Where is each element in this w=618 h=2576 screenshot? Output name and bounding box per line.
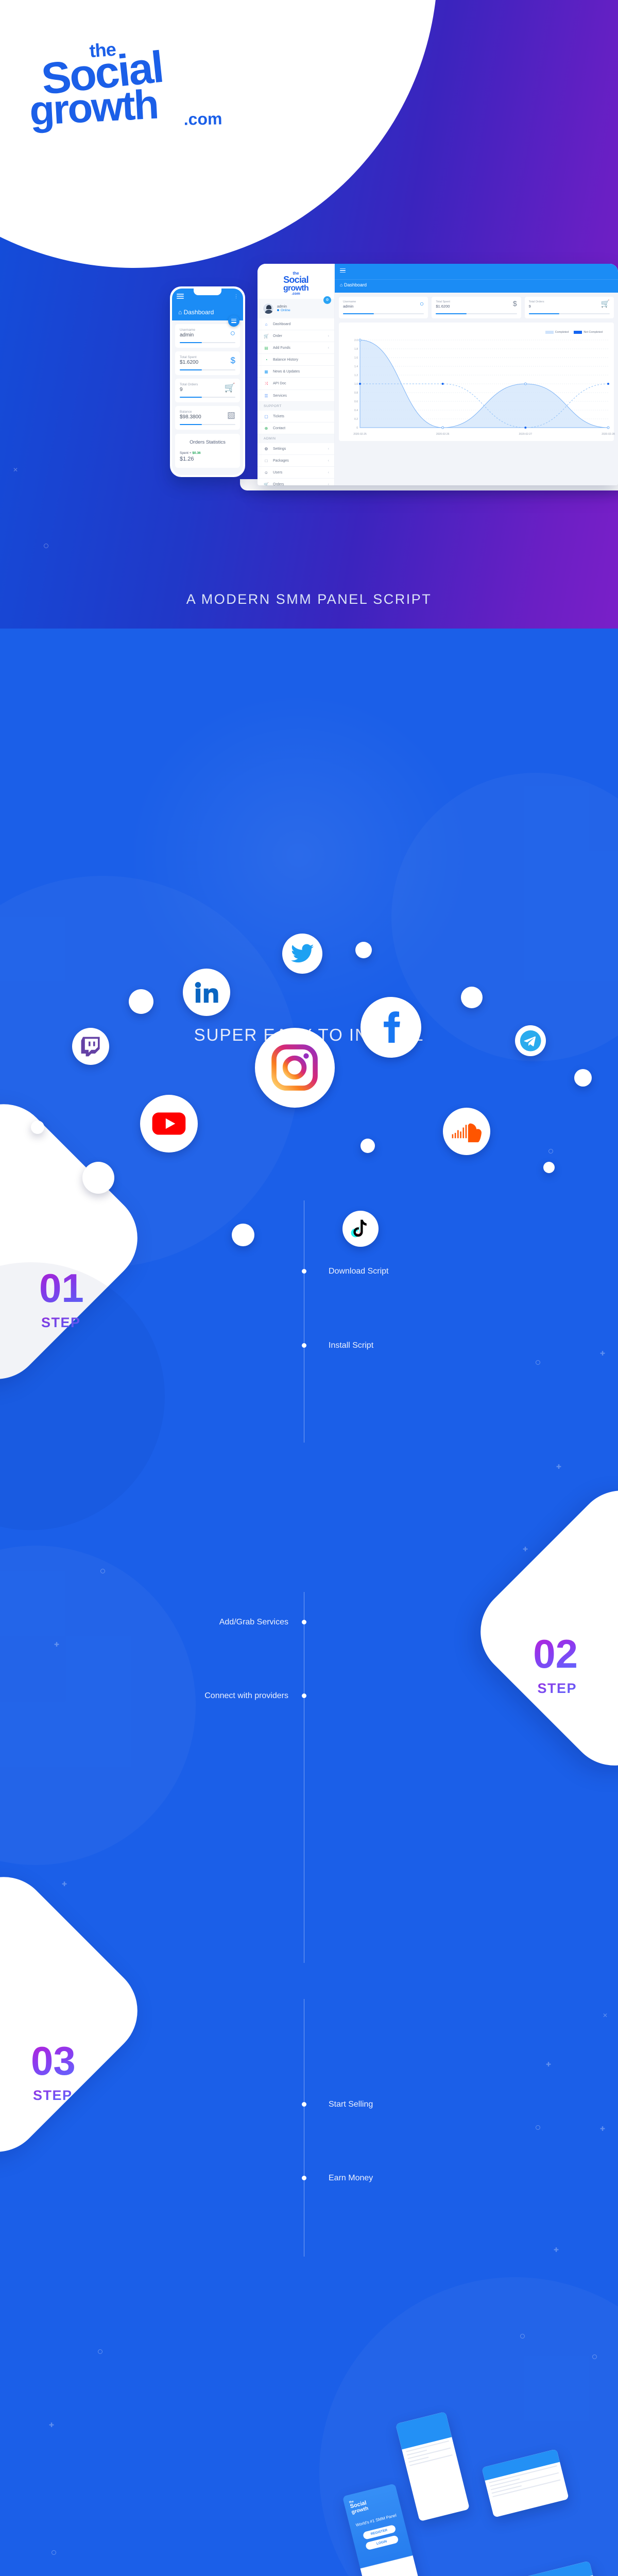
- sidebar-item-label: Dashboard: [273, 323, 290, 326]
- timeline-dot: [302, 2176, 306, 2180]
- step-item-add-grab-services: Add/Grab Services: [219, 1618, 288, 1627]
- decor-bubble: [360, 1139, 375, 1153]
- chevron-left-icon[interactable]: ‹: [328, 334, 329, 338]
- progress-bar: [180, 397, 235, 398]
- decor-bubble: [232, 1224, 254, 1246]
- decor-cross: ✕: [603, 2012, 608, 2019]
- breadcrumb: ⌂ Dashboard: [335, 279, 618, 293]
- hero-section: the Social growth .com the Social growth…: [0, 0, 618, 629]
- dashboard-main: ⌂ Dashboard Usernameadmin○Total Spent$1.…: [335, 264, 618, 485]
- chart-legend: Completed Not Completed: [545, 331, 603, 334]
- legend-completed: Completed: [545, 331, 569, 334]
- svg-text:0.4: 0.4: [354, 409, 358, 412]
- orders-spent-row: Spent + $0.36: [180, 451, 235, 455]
- dashboard-topbar: [335, 264, 618, 279]
- sidebar-menu: ⌂Dashboard🛒Order‹▤Add Funds‹◔Balance His…: [257, 318, 334, 402]
- stat-card-total-orders: Total Orders9🛒: [525, 297, 614, 318]
- dollar-icon: $: [513, 300, 517, 307]
- chat-icon: ▢: [264, 414, 269, 419]
- decor-plus: ✚: [600, 2125, 605, 2132]
- phone-fab-button[interactable]: [228, 315, 239, 327]
- stat-card-total-spent: Total Spent$1.6200$: [432, 297, 521, 318]
- decor-plus: ✚: [556, 1463, 561, 1470]
- chevron-left-icon[interactable]: ‹: [328, 483, 329, 485]
- orders-spent-delta: $0.36: [192, 451, 200, 455]
- sidebar-item-label: News & Updates: [273, 370, 300, 374]
- orders-chart: Completed Not Completed 00.20.40.60.81.0…: [339, 323, 614, 441]
- sidebar-item-label: Services: [273, 394, 287, 398]
- stat-card-username: Usernameadmin○: [339, 297, 428, 318]
- timeline-dot: [302, 2102, 306, 2107]
- sidebar-section-support: SUPPORT: [257, 402, 334, 411]
- chevron-left-icon[interactable]: ‹: [328, 447, 329, 451]
- cart-icon: 🛒: [264, 482, 269, 485]
- timeline-dot: [302, 1343, 306, 1348]
- sidebar-item-contact[interactable]: ⊕Contact: [257, 422, 334, 434]
- svg-text:0.6: 0.6: [354, 400, 358, 403]
- sidebar-menu-support: ▢Tickets⊕Contact: [257, 411, 334, 434]
- orders-spent-label: Spent +: [180, 451, 192, 455]
- step-card-02: [461, 1471, 618, 1785]
- dashboard-stat-cards: Usernameadmin○Total Spent$1.6200$Total O…: [335, 293, 618, 318]
- svg-text:1.2: 1.2: [354, 374, 358, 377]
- decor-bubble: [129, 989, 153, 1014]
- step-word-02: STEP: [537, 1681, 577, 1697]
- svg-text:2020-02-25: 2020-02-25: [353, 433, 367, 436]
- decor-bubble: [31, 1121, 44, 1134]
- cart-icon: 🛒: [601, 300, 610, 307]
- home-icon: ⌂: [178, 309, 182, 316]
- sidebar-user-status: Online: [277, 309, 290, 312]
- step-card-03: [0, 1858, 157, 2171]
- contact-icon: ⊕: [264, 426, 269, 431]
- sidebar-item-label: Add Funds: [273, 346, 290, 350]
- decor-bubble: [574, 1069, 592, 1087]
- decor-plus: ✚: [546, 2061, 551, 2068]
- stat-label: Username: [180, 328, 235, 332]
- svg-text:0: 0: [356, 427, 358, 430]
- sidebar-item-settings[interactable]: ⚙Settings‹: [257, 443, 334, 455]
- user-icon: ○: [230, 329, 235, 337]
- sidebar-item-news-updates[interactable]: ▦News & Updates: [257, 366, 334, 378]
- sidebar-item-services[interactable]: ☰Services: [257, 390, 334, 402]
- gear-icon[interactable]: ⚙: [323, 296, 331, 304]
- orders-statistics-card: Orders Statistics Spent + $0.36 $1.26: [175, 434, 240, 468]
- decor-bubble: [82, 1162, 114, 1194]
- decor-ring: [548, 1149, 553, 1154]
- step-number-02: 02: [533, 1636, 578, 1673]
- sidebar-item-label: Balance History: [273, 358, 298, 362]
- decor-bubble: [355, 942, 372, 958]
- decor-cross: ✕: [13, 466, 18, 473]
- tiktok-icon[interactable]: [342, 1211, 379, 1247]
- breadcrumb-title: Dashboard: [344, 282, 367, 287]
- instagram-icon[interactable]: [255, 1028, 335, 1108]
- sidebar-menu-admin: ⚙Settings‹□Packages‹☺Users‹🛒Orders‹: [257, 443, 334, 485]
- cart-icon: 🛒: [264, 334, 269, 338]
- svg-text:2020-02-28: 2020-02-28: [602, 433, 615, 436]
- twitter-icon[interactable]: [282, 934, 322, 974]
- decor-plus: ✚: [62, 1880, 67, 1888]
- timeline-line-01: [304, 1200, 304, 1443]
- sidebar-user-panel[interactable]: admin Online ⚙: [257, 299, 334, 318]
- svg-text:1.0: 1.0: [354, 383, 358, 386]
- timeline-line-03: [304, 1999, 304, 2257]
- step-item-earn-money: Earn Money: [329, 2174, 373, 2183]
- timeline-dot: [302, 1693, 306, 1698]
- card-icon: ▤: [264, 346, 269, 350]
- cart-icon: 🛒: [225, 383, 235, 392]
- wallet-icon: ▧: [227, 411, 235, 419]
- phone-stat-card-username: Usernameadmin○: [175, 324, 240, 348]
- step-word-03: STEP: [33, 2088, 73, 2104]
- news-icon: ▦: [264, 369, 269, 374]
- decor-ring: [536, 1360, 540, 1365]
- timeline-line-02: [304, 1592, 304, 1963]
- twitch-icon[interactable]: [72, 1028, 109, 1065]
- stat-value: $1.6200: [180, 360, 235, 365]
- dollar-icon: $: [231, 356, 235, 365]
- users-icon: ☺: [264, 470, 269, 475]
- legend-completed-label: Completed: [555, 331, 569, 334]
- chevron-left-icon[interactable]: ‹: [328, 471, 329, 474]
- list-icon: ☰: [264, 394, 269, 398]
- chart-svg: 00.20.40.60.81.01.21.41.61.82.0 2020-02-…: [341, 337, 616, 438]
- phone-stat-cards: Usernameadmin○Total Spent$1.6200$Total O…: [172, 324, 243, 430]
- decor-bubble: [543, 1162, 555, 1173]
- history-icon: ◔: [264, 358, 269, 362]
- sidebar-item-packages[interactable]: □Packages‹: [257, 455, 334, 467]
- dashboard-sidebar: the Social growth .com admin Online ⚙ ⌂D…: [257, 264, 335, 485]
- progress-bar: [180, 369, 235, 370]
- stat-value: $1.6200: [436, 304, 517, 309]
- sidebar-section-admin: ADMIN: [257, 434, 334, 443]
- step-number-03: 03: [31, 2043, 76, 2080]
- home-icon: ⌂: [340, 282, 342, 287]
- stat-label: Username: [343, 300, 424, 303]
- progress-bar: [180, 342, 235, 343]
- decor-ring: [51, 2550, 56, 2555]
- sidebar-item-label: Settings: [273, 447, 286, 451]
- step-item-start-selling: Start Selling: [329, 2100, 373, 2109]
- landing-page: the Social growth .com the Social growth…: [0, 0, 618, 2576]
- topbar-burger-icon[interactable]: [335, 264, 618, 273]
- sidebar-item-label: Users: [273, 471, 282, 474]
- sidebar-item-label: Contact: [273, 427, 285, 430]
- stat-value: admin: [343, 304, 424, 309]
- step-item-install-script: Install Script: [329, 1341, 373, 1350]
- svg-text:0.2: 0.2: [354, 418, 358, 421]
- step-item-connect-providers: Connect with providers: [204, 1691, 288, 1701]
- logo-com-text: .com: [183, 109, 222, 129]
- sidebar-logo: the Social growth .com: [257, 264, 334, 299]
- soundcloud-icon[interactable]: [443, 1108, 490, 1155]
- phone-stat-card-balance: Balance$98.3800▧: [175, 406, 240, 430]
- sidebar-item-label: API Doc: [273, 382, 286, 385]
- logo-growth-text: growth: [28, 84, 158, 132]
- svg-text:1.8: 1.8: [354, 348, 358, 351]
- timeline-dot: [302, 1269, 306, 1274]
- legend-not-completed-label: Not Completed: [583, 331, 603, 334]
- decor-plus: ✚: [523, 1546, 528, 1553]
- decor-ring: [536, 2125, 540, 2130]
- gear-icon: ⚙: [264, 447, 269, 451]
- legend-not-completed: Not Completed: [574, 331, 603, 334]
- decor-bubble: [461, 987, 483, 1008]
- svg-text:2020-02-26: 2020-02-26: [436, 433, 450, 436]
- stat-label: Total Orders: [529, 300, 610, 303]
- facebook-icon[interactable]: [360, 997, 421, 1058]
- stat-label: Total Spent: [180, 355, 235, 359]
- sidebar-item-label: Order: [273, 334, 282, 338]
- phone-title: Dashboard: [184, 309, 214, 316]
- telegram-icon[interactable]: [515, 1025, 546, 1056]
- decor-plus: ✚: [600, 1350, 605, 1357]
- progress-bar: [343, 313, 424, 314]
- sidebar-item-dashboard[interactable]: ⌂Dashboard: [257, 318, 334, 330]
- decor-ring: [98, 2349, 102, 2354]
- sidebar-item-orders[interactable]: 🛒Orders‹: [257, 479, 334, 485]
- phone-mockup: ⋮ ⌂ Dashboard Usernameadmin○Total Spent$…: [170, 286, 245, 477]
- sidebar-item-label: Packages: [273, 459, 289, 463]
- svg-text:2.0: 2.0: [354, 339, 358, 342]
- home-icon: ⌂: [264, 322, 269, 327]
- svg-text:1.4: 1.4: [354, 365, 358, 368]
- laptop-mockup: the Social growth .com admin Online ⚙ ⌂D…: [257, 264, 618, 485]
- decor-plus: ✚: [49, 2421, 54, 2429]
- orders-spent-amount: $1.26: [180, 456, 235, 462]
- sidebar-item-label: Tickets: [273, 415, 284, 418]
- phone-stat-card-total-orders: Total Orders9🛒: [175, 379, 240, 402]
- youtube-icon[interactable]: [140, 1095, 198, 1153]
- logo-social-text: Social: [257, 276, 334, 284]
- linkedin-icon[interactable]: [183, 969, 230, 1016]
- hero-tagline: A MODERN SMM PANEL SCRIPT: [0, 591, 618, 607]
- user-icon: ○: [420, 300, 424, 307]
- stat-value: 9: [529, 304, 610, 309]
- decor-plus: ✚: [554, 2246, 559, 2253]
- phone-stat-card-total-spent: Total Spent$1.6200$: [175, 351, 240, 375]
- progress-bar: [180, 424, 235, 425]
- step-item-download-script: Download Script: [329, 1267, 389, 1276]
- sidebar-item-add-funds[interactable]: ▤Add Funds‹: [257, 342, 334, 354]
- decor-blob: [0, 1546, 196, 1865]
- progress-bar: [436, 313, 517, 314]
- sidebar-user-name: admin: [277, 305, 290, 309]
- chevron-left-icon[interactable]: ‹: [328, 459, 329, 463]
- decor-blob: [0, 1262, 165, 1530]
- stat-value: admin: [180, 332, 235, 338]
- sidebar-item-api-doc[interactable]: ⤨API Doc: [257, 378, 334, 390]
- more-icon[interactable]: ⋮: [234, 294, 238, 299]
- phone-notch: [194, 289, 221, 295]
- logo-com-text: .com: [257, 292, 334, 296]
- sidebar-item-tickets[interactable]: ▢Tickets: [257, 411, 334, 422]
- chevron-left-icon[interactable]: ‹: [328, 346, 329, 350]
- sidebar-item-label: Orders: [273, 483, 284, 485]
- decor-blob: [319, 2277, 618, 2576]
- menu-icon[interactable]: [177, 294, 184, 299]
- sidebar-item-users[interactable]: ☺Users‹: [257, 467, 334, 479]
- orders-statistics-title: Orders Statistics: [180, 439, 235, 445]
- progress-bar: [529, 313, 610, 314]
- svg-text:2020-02-27: 2020-02-27: [519, 433, 533, 436]
- svg-text:1.6: 1.6: [354, 357, 358, 360]
- svg-text:0.8: 0.8: [354, 392, 358, 395]
- avatar: [263, 303, 274, 314]
- stat-label: Total Spent: [436, 300, 517, 303]
- shuffle-icon: ⤨: [264, 381, 269, 386]
- sidebar-item-balance-history[interactable]: ◔Balance History: [257, 354, 334, 366]
- timeline-dot: [302, 1620, 306, 1624]
- phone-breadcrumb: ⌂ Dashboard: [178, 309, 214, 316]
- decor-ring: [44, 544, 48, 548]
- sidebar-item-order[interactable]: 🛒Order‹: [257, 330, 334, 342]
- box-icon: □: [264, 459, 269, 463]
- logo-growth-text: growth: [257, 284, 334, 292]
